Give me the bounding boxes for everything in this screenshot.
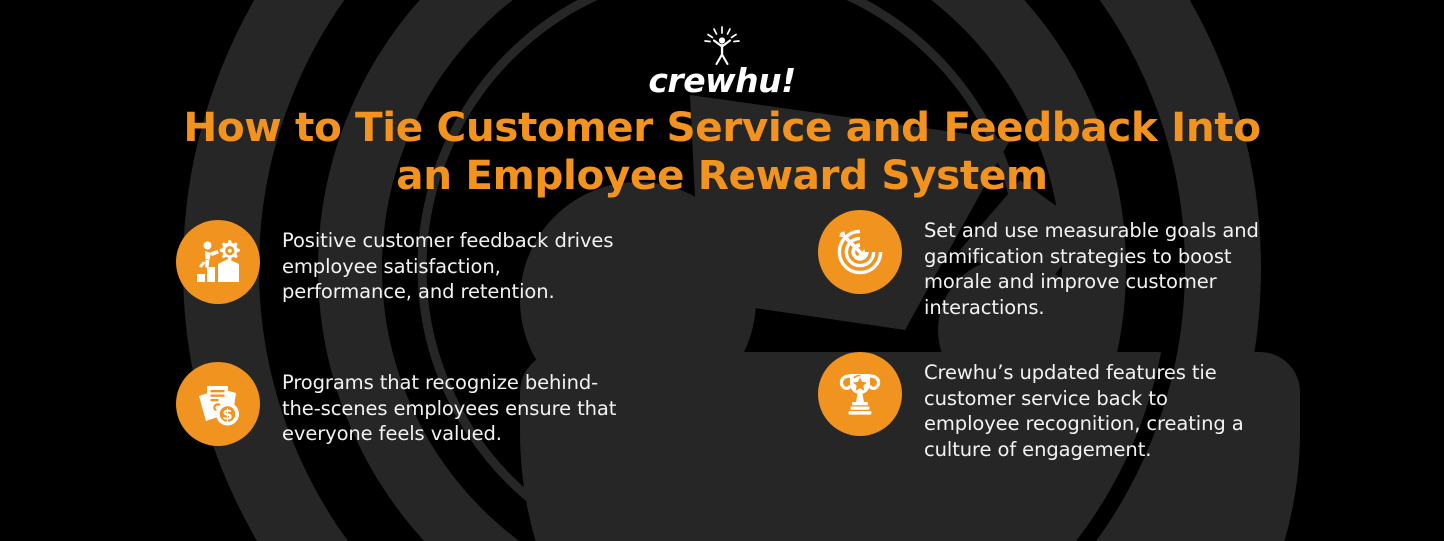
benefit-item-2: Set and use measurable goals and gamific… (818, 216, 1268, 358)
infographic-canvas: crewhu! How to Tie Customer Service and … (0, 0, 1444, 541)
benefit-text-1: Positive customer feedback drives employ… (282, 216, 627, 305)
trophy-star-icon (818, 352, 902, 436)
person-climbing-bar-chart-gear-icon (176, 220, 260, 304)
person-celebrating-icon (691, 26, 753, 66)
benefit-item-3: $ Programs that recognize behind-the-sce… (176, 358, 818, 462)
benefit-item-1: Positive customer feedback drives employ… (176, 216, 818, 358)
certificate-dollar-coin-icon: $ (176, 362, 260, 446)
benefit-item-4: Crewhu’s updated features tie customer s… (818, 358, 1268, 462)
benefit-text-4: Crewhu’s updated features tie customer s… (924, 358, 1264, 462)
svg-text:$: $ (222, 406, 232, 424)
target-bullseye-arrow-icon (818, 210, 902, 294)
benefit-text-3: Programs that recognize behind-the-scene… (282, 358, 622, 447)
brand-name: crewhu! (648, 64, 795, 97)
benefit-text-2: Set and use measurable goals and gamific… (924, 216, 1259, 320)
benefits-grid: Positive customer feedback drives employ… (176, 216, 1268, 462)
page-title: How to Tie Customer Service and Feedback… (157, 103, 1287, 199)
brand-logo: crewhu! (0, 26, 1444, 97)
